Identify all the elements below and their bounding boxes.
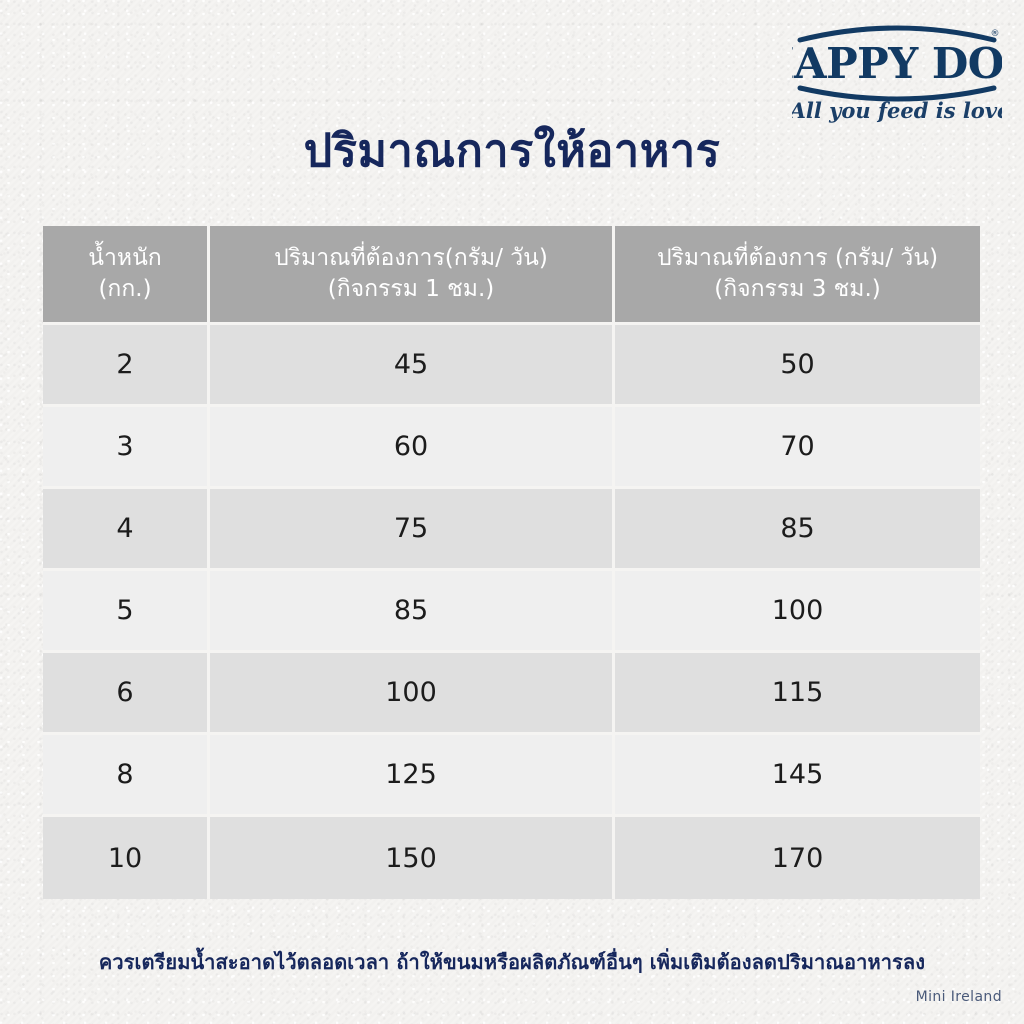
column-header-activity-1h-line1: ปริมาณที่ต้องการ(กรัม/ วัน) [216,243,606,274]
table-row: 8 125 145 [43,735,980,817]
cell-weight: 8 [43,735,210,817]
column-header-activity-3h: ปริมาณที่ต้องการ (กรัม/ วัน) (กิจกรรม 3 … [615,226,980,325]
table-row: 6 100 115 [43,653,980,735]
page-title: ปริมาณการให้อาหาร [0,124,1024,178]
table-header-row: น้ำหนัก (กก.) ปริมาณที่ต้องการ(กรัม/ วัน… [43,226,980,325]
cell-weight: 5 [43,571,210,653]
cell-grams-3h: 170 [615,817,980,899]
cell-grams-3h: 85 [615,489,980,571]
cell-grams-1h: 150 [210,817,615,899]
column-header-weight-line1: น้ำหนัก [49,243,201,274]
column-header-activity-3h-line1: ปริมาณที่ต้องการ (กรัม/ วัน) [621,243,974,274]
column-header-weight-line2: (กก.) [49,274,201,305]
column-header-activity-1h-line2: (กิจกรรม 1 ชม.) [216,274,606,305]
watermark: Mini Ireland [916,989,1002,1005]
cell-weight: 3 [43,407,210,489]
feeding-amount-table: น้ำหนัก (กก.) ปริมาณที่ต้องการ(กรัม/ วัน… [43,226,980,899]
table-body: 2 45 50 3 60 70 4 75 85 5 85 100 6 100 [43,325,980,899]
cell-weight: 2 [43,325,210,407]
happy-dog-logo: HAPPY DOG ® All you feed is love [792,14,1002,126]
registered-trademark-icon: ® [991,29,1000,39]
cell-weight: 6 [43,653,210,735]
cell-grams-3h: 50 [615,325,980,407]
cell-grams-3h: 115 [615,653,980,735]
table-row: 10 150 170 [43,817,980,899]
feeding-guide-page: HAPPY DOG ® All you feed is love ปริมาณก… [0,0,1024,1024]
footer-note: ควรเตรียมน้ำสะอาดไว้ตลอดเวลา ถ้าให้ขนมหร… [0,946,1024,978]
column-header-activity-3h-line2: (กิจกรรม 3 ชม.) [621,274,974,305]
logo-tagline-text: All you feed is love [792,98,1002,123]
table-row: 5 85 100 [43,571,980,653]
cell-weight: 10 [43,817,210,899]
column-header-weight: น้ำหนัก (กก.) [43,226,210,325]
cell-grams-1h: 45 [210,325,615,407]
table-row: 2 45 50 [43,325,980,407]
cell-grams-1h: 75 [210,489,615,571]
column-header-activity-1h: ปริมาณที่ต้องการ(กรัม/ วัน) (กิจกรรม 1 ช… [210,226,615,325]
cell-weight: 4 [43,489,210,571]
cell-grams-1h: 85 [210,571,615,653]
cell-grams-1h: 125 [210,735,615,817]
cell-grams-3h: 145 [615,735,980,817]
table-row: 4 75 85 [43,489,980,571]
logo-wordmark-text: HAPPY DOG [792,39,1002,88]
table-header: น้ำหนัก (กก.) ปริมาณที่ต้องการ(กรัม/ วัน… [43,226,980,325]
cell-grams-3h: 100 [615,571,980,653]
table-row: 3 60 70 [43,407,980,489]
cell-grams-3h: 70 [615,407,980,489]
cell-grams-1h: 100 [210,653,615,735]
cell-grams-1h: 60 [210,407,615,489]
